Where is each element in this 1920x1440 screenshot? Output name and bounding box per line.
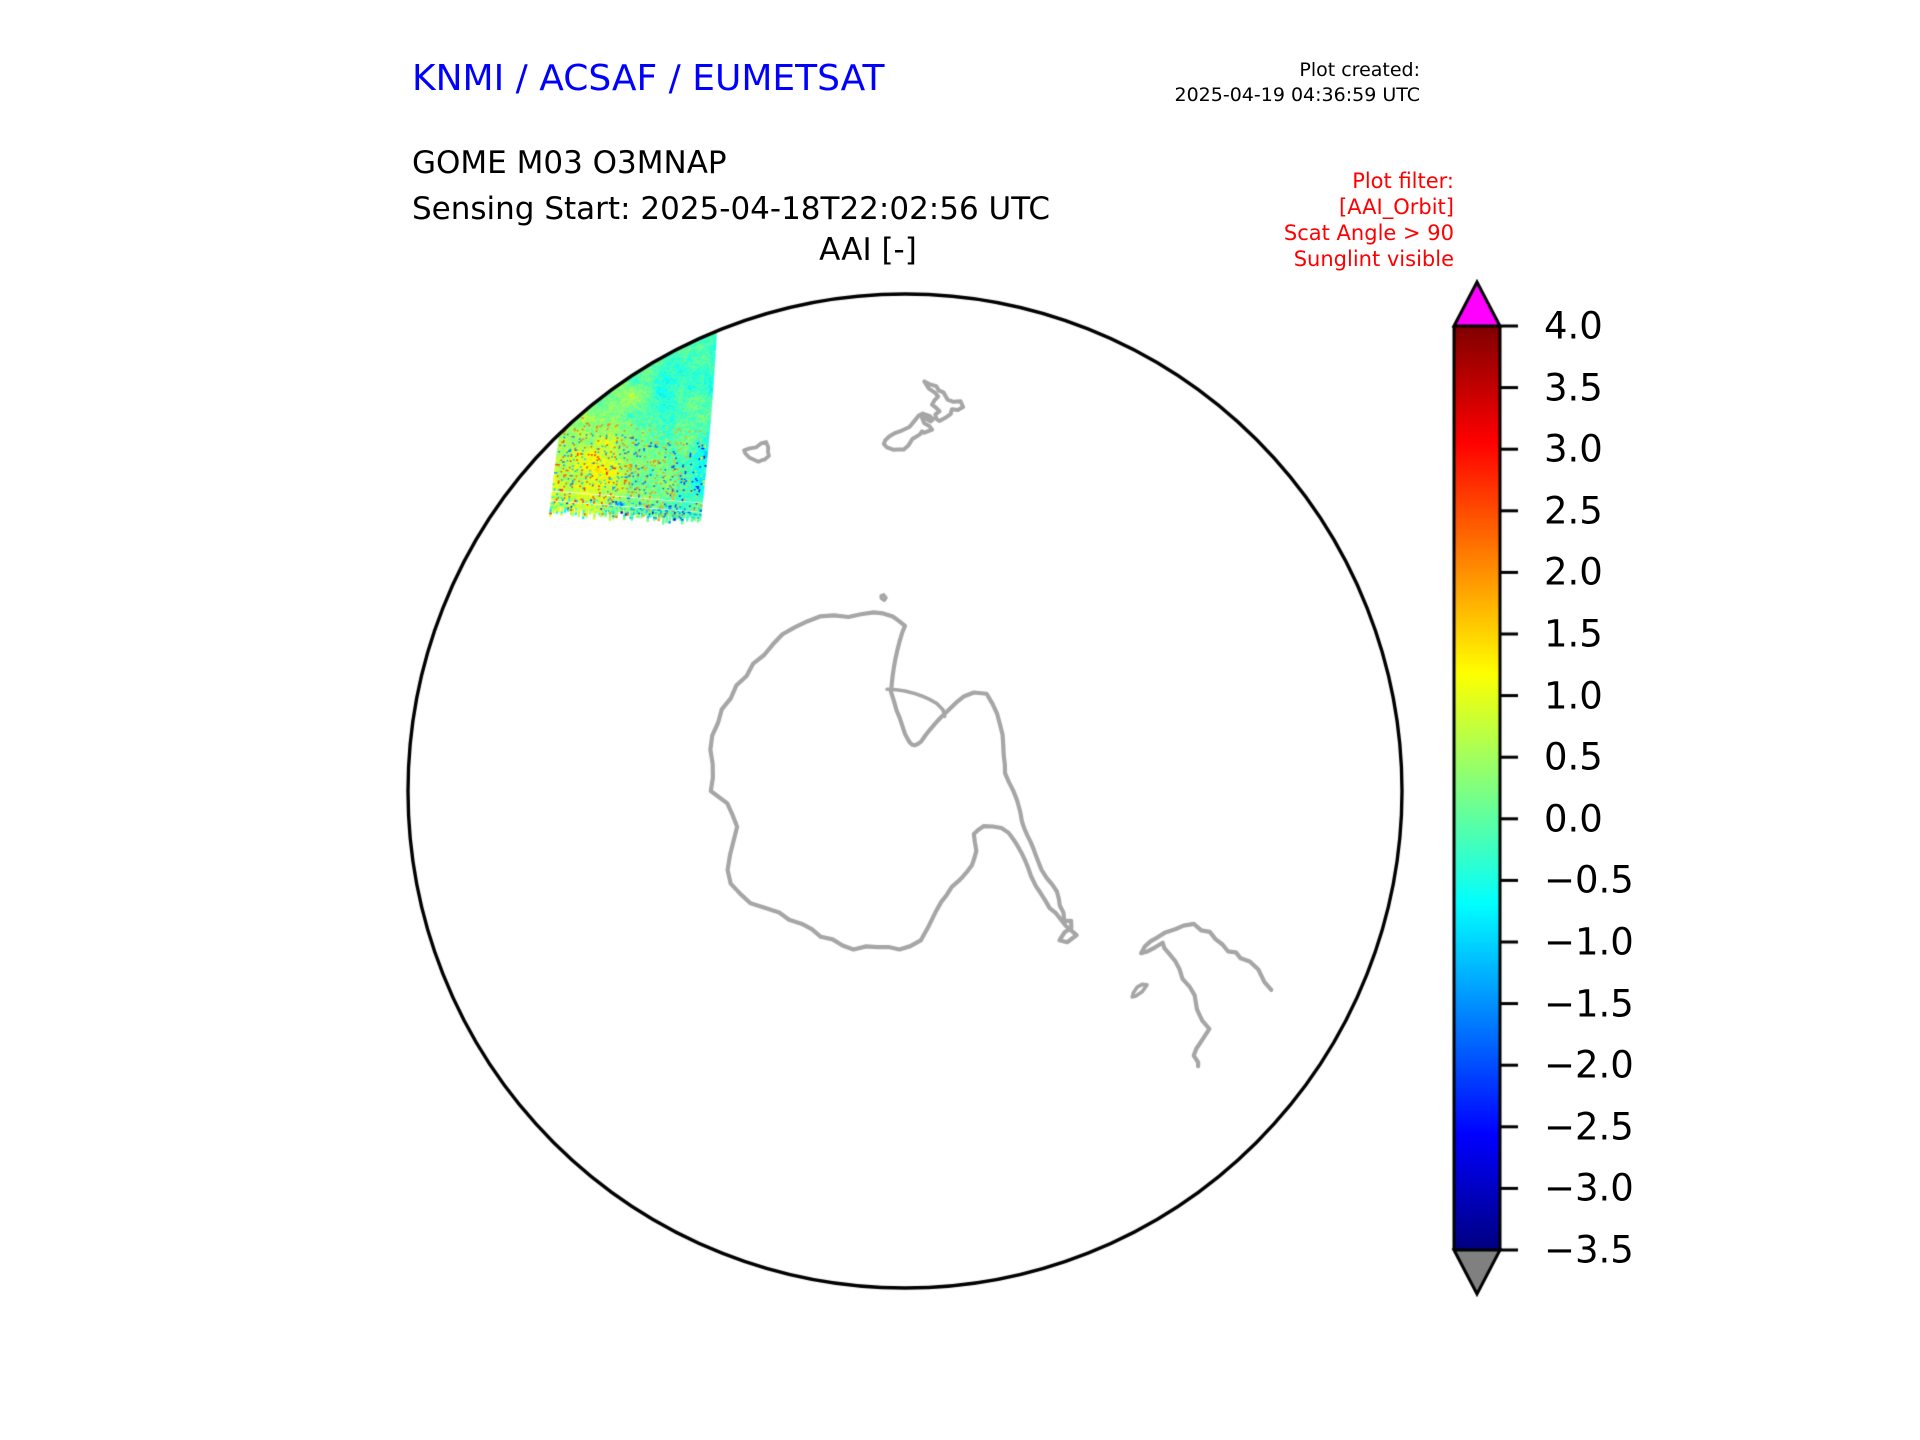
plot-filter-block: Plot filter: [AAI_Orbit] Scat Angle > 90… (1284, 168, 1454, 272)
variable-title: AAI [-] (0, 232, 1920, 268)
colorbar-tick-0: 4.0 (1544, 305, 1603, 348)
colorbar-tick-1: 3.5 (1544, 366, 1603, 409)
colorbar-tick-5: 1.5 (1544, 613, 1603, 656)
plot-filter-label: Plot filter: (1284, 168, 1454, 194)
globe-orthographic-canvas (400, 276, 1410, 1306)
plot-page: KNMI / ACSAF / EUMETSAT Plot created: 20… (0, 0, 1920, 1440)
colorbar-tick-labels: 4.03.53.02.52.01.51.00.50.0−0.5−1.0−1.5−… (1518, 278, 1758, 1298)
colorbar-tick-11: −1.5 (1544, 982, 1634, 1025)
plot-created-block: Plot created: 2025-04-19 04:36:59 UTC (1175, 58, 1421, 108)
colorbar-tick-8: 0.0 (1544, 797, 1603, 840)
colorbar-tick-15: −3.5 (1544, 1229, 1634, 1272)
plot-created-timestamp: 2025-04-19 04:36:59 UTC (1175, 83, 1421, 108)
variable-title-text: AAI [-] (819, 232, 917, 268)
colorbar-tick-7: 0.5 (1544, 736, 1603, 779)
provider-credits: KNMI / ACSAF / EUMETSAT (412, 58, 884, 99)
colorbar-tick-10: −1.0 (1544, 921, 1634, 964)
colorbar-tick-12: −2.0 (1544, 1044, 1634, 1087)
plot-filter-line-2: Sunglint visible (1284, 246, 1454, 272)
colorbar-tick-4: 2.0 (1544, 551, 1603, 594)
colorbar-tick-9: −0.5 (1544, 859, 1634, 902)
sensing-start-text: Sensing Start: 2025-04-18T22:02:56 UTC (412, 188, 1050, 230)
colorbar: 4.03.53.02.52.01.51.00.50.0−0.5−1.0−1.5−… (1440, 278, 1780, 1298)
dataset-title: GOME M03 O3MNAP (412, 142, 727, 184)
plot-filter-line-1: Scat Angle > 90 (1284, 220, 1454, 246)
colorbar-tick-2: 3.0 (1544, 428, 1603, 471)
colorbar-tick-13: −2.5 (1544, 1105, 1634, 1148)
map-plot-area (400, 276, 1410, 1306)
plot-created-label: Plot created: (1175, 58, 1421, 83)
colorbar-tick-14: −3.0 (1544, 1167, 1634, 1210)
colorbar-tick-3: 2.5 (1544, 489, 1603, 532)
plot-filter-line-0: [AAI_Orbit] (1284, 194, 1454, 220)
colorbar-tick-6: 1.0 (1544, 674, 1603, 717)
